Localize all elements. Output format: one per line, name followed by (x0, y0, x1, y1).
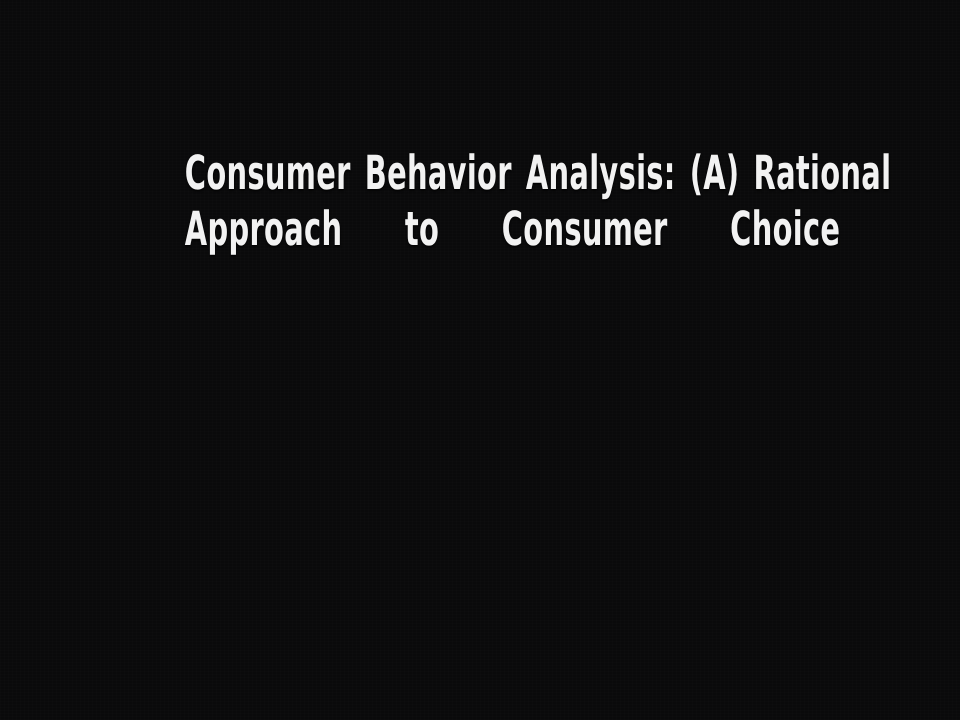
cover-title-block: Consumer Behavior Analysis: (A) Rational… (0, 148, 960, 257)
cover-title-line-1: Consumer Behavior Analysis: (A) Rational (185, 148, 775, 200)
book-cover-canvas: Consumer Behavior Analysis: (A) Rational… (0, 0, 960, 720)
empty-lower-field (0, 280, 960, 720)
cover-title-line-2: Approach to Consumer Choice (185, 203, 775, 257)
